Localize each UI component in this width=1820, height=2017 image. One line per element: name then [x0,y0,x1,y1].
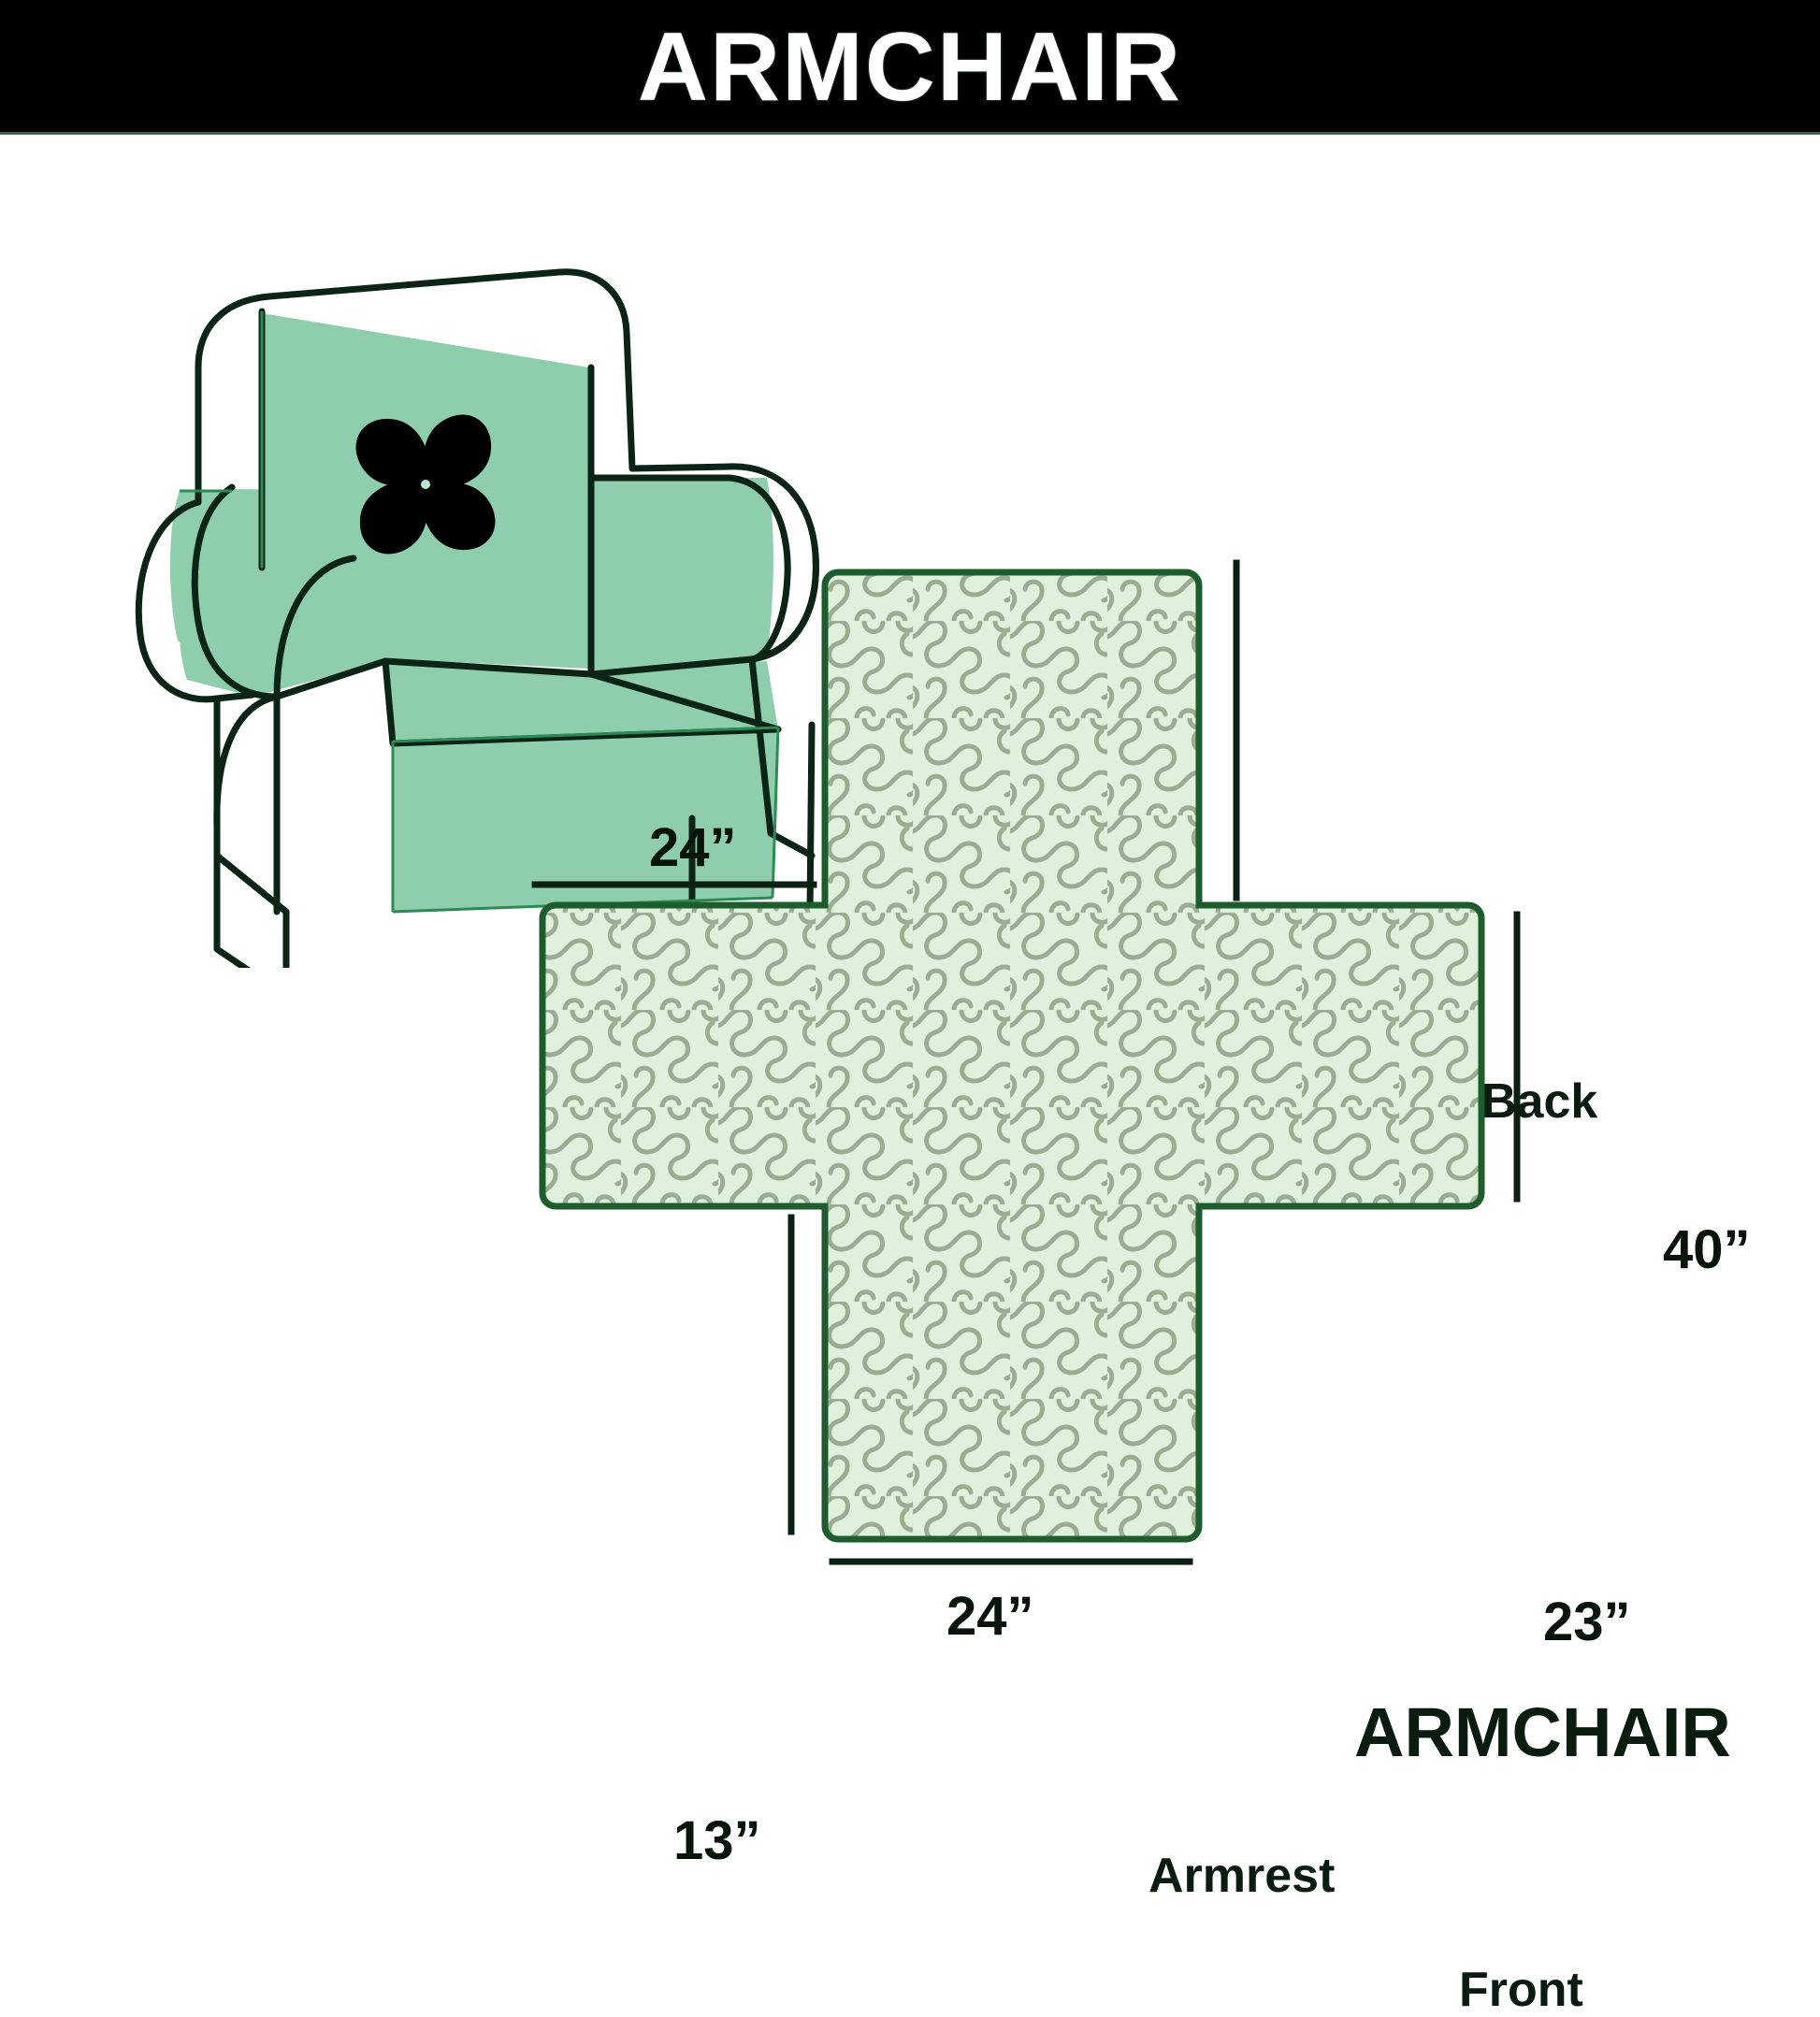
slipcover-pattern-diagram: Back ARMCHAIR Armrest Armrest Front 40” … [524,524,1814,1814]
dimension-label-24in-bottom: 24” [946,1590,1034,1644]
header-divider [0,132,1820,135]
label-back: Back [1481,1077,1597,1126]
dimension-label-24in-top: 24” [649,821,737,875]
page-title: ARMCHAIR [638,19,1182,116]
label-armrest-left: Armrest [1148,1851,1335,1900]
label-front: Front [1459,1966,1583,2014]
label-armchair-center: ARMCHAIR [1354,1698,1731,1767]
page-root: ARMCHAIR [0,0,1820,1820]
page-header: ARMCHAIR [0,0,1820,134]
dimension-label-13in: 13” [673,1814,761,1868]
dimension-label-40in: 40” [1663,1223,1751,1277]
dimension-label-23in: 23” [1543,1595,1631,1650]
